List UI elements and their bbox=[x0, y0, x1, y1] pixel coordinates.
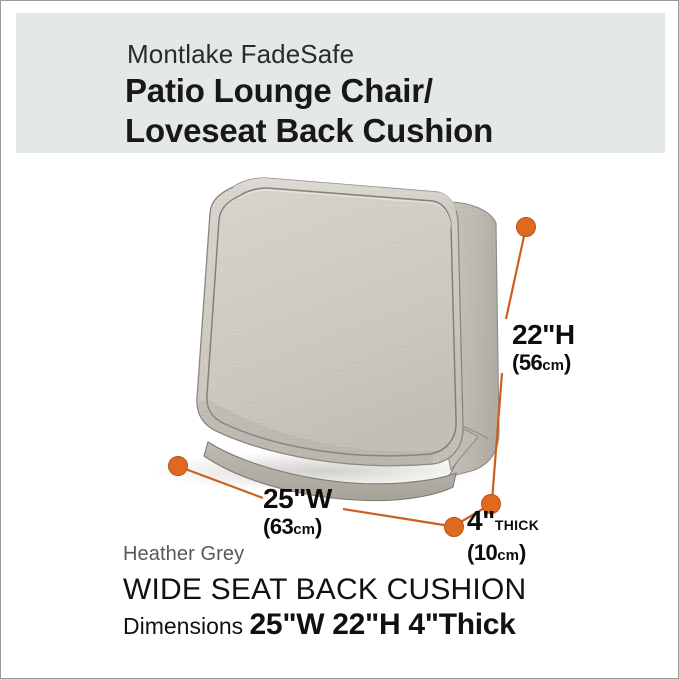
cushion-side-flap bbox=[442, 425, 478, 470]
width-value: 25"W bbox=[263, 484, 332, 514]
caption-block: Heather Grey WIDE SEAT BACK CUSHION Dime… bbox=[123, 543, 663, 643]
cushion-side-seam bbox=[456, 424, 488, 439]
dimensions-label: Dimensions bbox=[123, 613, 243, 639]
dimension-marker-width-left bbox=[169, 457, 188, 476]
width-metric: (63cm) bbox=[263, 514, 332, 543]
width-metric-close: ) bbox=[315, 514, 322, 539]
width-metric-number: (63 bbox=[263, 514, 293, 539]
thickness-value-row: 4"THICK bbox=[467, 506, 539, 540]
cushion-piping-seam bbox=[207, 188, 456, 456]
width-dimension-line bbox=[180, 467, 263, 498]
width-dimension-label: 25"W (63cm) bbox=[263, 484, 332, 543]
cushion-face-shading bbox=[199, 401, 433, 466]
thickness-suffix: THICK bbox=[495, 517, 539, 533]
dimension-marker-height-top bbox=[517, 218, 536, 237]
cushion-front-face bbox=[197, 178, 463, 466]
header-panel: Montlake FadeSafe Patio Lounge Chair/ Lo… bbox=[16, 13, 665, 153]
height-metric-number: (56 bbox=[512, 350, 542, 375]
color-name: Heather Grey bbox=[123, 543, 663, 566]
width-dimension-line-right bbox=[343, 509, 450, 526]
cushion-side-panel bbox=[448, 202, 499, 477]
height-value: 22"H bbox=[512, 320, 575, 350]
width-metric-unit: cm bbox=[293, 521, 315, 538]
dimensions-values: 25"W 22"H 4"Thick bbox=[250, 608, 516, 641]
height-dimension-line-lower bbox=[492, 373, 502, 501]
height-metric: (56cm) bbox=[512, 350, 575, 379]
product-info-graphic: Montlake FadeSafe Patio Lounge Chair/ Lo… bbox=[0, 0, 679, 679]
height-metric-close: ) bbox=[564, 350, 571, 375]
cushion-type: WIDE SEAT BACK CUSHION bbox=[123, 573, 663, 607]
height-metric-unit: cm bbox=[542, 357, 564, 374]
dimensions-summary: Dimensions 25"W 22"H 4"Thick bbox=[123, 608, 663, 643]
dimension-marker-thickness-left bbox=[445, 518, 464, 537]
thickness-value: 4" bbox=[467, 505, 495, 536]
product-title: Patio Lounge Chair/ Loveseat Back Cushio… bbox=[125, 71, 493, 151]
height-dimension-label: 22"H (56cm) bbox=[512, 320, 575, 379]
brand-name: Montlake FadeSafe bbox=[127, 39, 354, 70]
cushion-top-edge-highlight bbox=[233, 178, 457, 211]
height-dimension-line bbox=[506, 227, 526, 319]
